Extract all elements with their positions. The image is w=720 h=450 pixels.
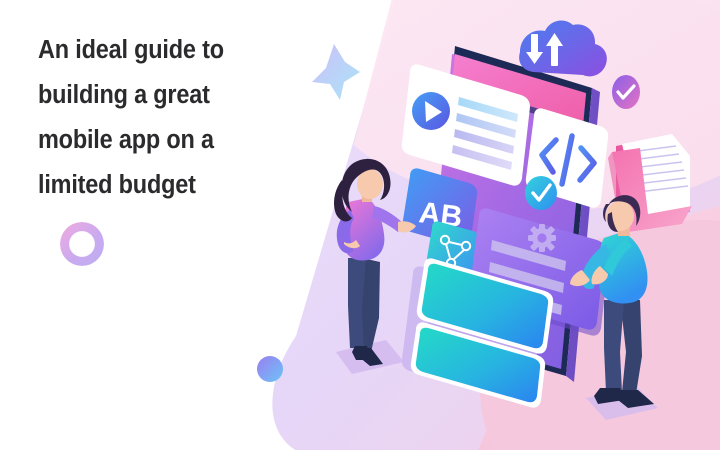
gear-icon	[528, 224, 556, 252]
check-badge-purple	[612, 75, 640, 109]
page-canvas: AB	[0, 0, 720, 450]
play-icon	[412, 92, 450, 130]
page-title: An ideal guide to building a great mobil…	[38, 28, 268, 208]
star-shape	[312, 44, 360, 100]
gradient-ring	[60, 222, 104, 266]
check-badge-blue	[525, 176, 557, 210]
dot-shape	[257, 356, 283, 382]
